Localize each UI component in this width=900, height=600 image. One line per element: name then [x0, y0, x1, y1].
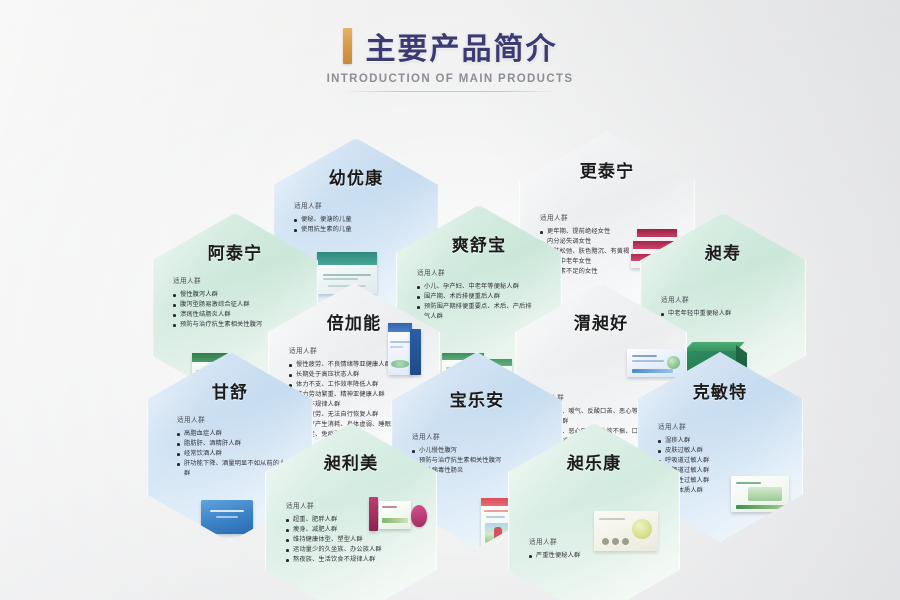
list-item: 便秘、便溏的儿童 — [294, 215, 427, 225]
list-item: 小儿、孕产妇、中老年等便秘人群 — [417, 282, 537, 292]
product-name: 阿泰宁 — [164, 239, 306, 264]
list-item: 脂肪肝、酒精肝人群 — [177, 439, 289, 449]
list-item: 维持健康体型、塑型人群 — [286, 535, 411, 545]
product-name: 克敏特 — [649, 378, 791, 403]
list-item: 经常饮酒人群 — [177, 449, 289, 459]
product-name: 爽舒宝 — [408, 231, 550, 256]
list-item: 预防围产期排便重要点、术后、产后排气人群 — [417, 302, 537, 322]
list-item: 严重性便秘人群 — [529, 551, 668, 561]
title-accent-bar — [343, 28, 352, 64]
product-name: 幼优康 — [285, 164, 427, 189]
audience-label: 适用人群 — [173, 275, 306, 285]
audience-list: 严重性便秘人群 — [529, 551, 668, 561]
list-item: 内分泌失调女性 — [540, 237, 633, 247]
audience-label: 适用人群 — [658, 421, 791, 431]
list-item: 中老年轻中重便秘人群 — [661, 309, 794, 319]
product-name: 甘舒 — [159, 378, 301, 403]
page-subtitle: INTRODUCTION OF MAIN PRODUCTS — [327, 73, 574, 85]
list-item: 呼吸道过敏人群 — [658, 456, 730, 466]
audience-label: 适用人群 — [417, 267, 550, 277]
list-item: 皮肤过敏人群 — [658, 446, 730, 456]
audience-label: 适用人群 — [177, 414, 301, 424]
list-item: 小儿慢性腹泻 — [412, 446, 534, 456]
list-item: 腹泻型肠易激综合征人群 — [173, 300, 306, 310]
product-name: 宝乐安 — [403, 386, 551, 411]
list-item: 运动量少的久坐族、办公族人群 — [286, 545, 411, 555]
product-name: 昶寿 — [652, 239, 794, 264]
audience-list: 便秘、便溏的儿童 使用抗生素的儿童 — [294, 215, 427, 235]
product-name: 昶利美 — [277, 449, 425, 474]
audience-list: 中老年轻中重便秘人群 — [661, 309, 794, 319]
product-name: 渭昶好 — [527, 309, 675, 334]
list-item: 熬夜族、生活饮食不规律人群 — [286, 555, 411, 565]
list-item: 围产期、术后排便重后人群 — [417, 292, 537, 302]
list-item: 湿疹人群 — [658, 436, 730, 446]
list-item: 更年期、提前绝经女性 — [540, 227, 633, 237]
audience-label: 适用人群 — [661, 294, 794, 304]
title-divider — [343, 91, 557, 92]
list-item: 溃疡性结肠炎人群 — [173, 310, 306, 320]
audience-list: 小儿、孕产妇、中老年等便秘人群 围产期、术后排便重后人群 预防围产期排便重要点、… — [417, 282, 537, 322]
exhibition-wall-panel: 主要产品简介 INTRODUCTION OF MAIN PRODUCTS 幼优康… — [0, 0, 900, 600]
list-item: 使用抗生素的儿童 — [294, 225, 427, 235]
audience-label: 适用人群 — [540, 212, 683, 222]
page-title: 主要产品简介 — [366, 24, 558, 68]
list-item: 体力不支、工作效率降低人群 — [289, 380, 417, 390]
list-item: 慢性腹泻人群 — [173, 290, 306, 300]
title-row: 主要产品简介 — [343, 24, 558, 68]
product-name: 昶乐康 — [520, 449, 668, 474]
product-name: 更泰宁 — [531, 157, 683, 182]
list-item: 高脂血症人群 — [177, 429, 289, 439]
page-title-block: 主要产品简介 INTRODUCTION OF MAIN PRODUCTS — [0, 24, 900, 92]
list-item: 预防与治疗抗生素相关性腹泻 — [412, 456, 534, 466]
audience-label: 适用人群 — [412, 431, 551, 441]
audience-label: 适用人群 — [294, 200, 427, 210]
